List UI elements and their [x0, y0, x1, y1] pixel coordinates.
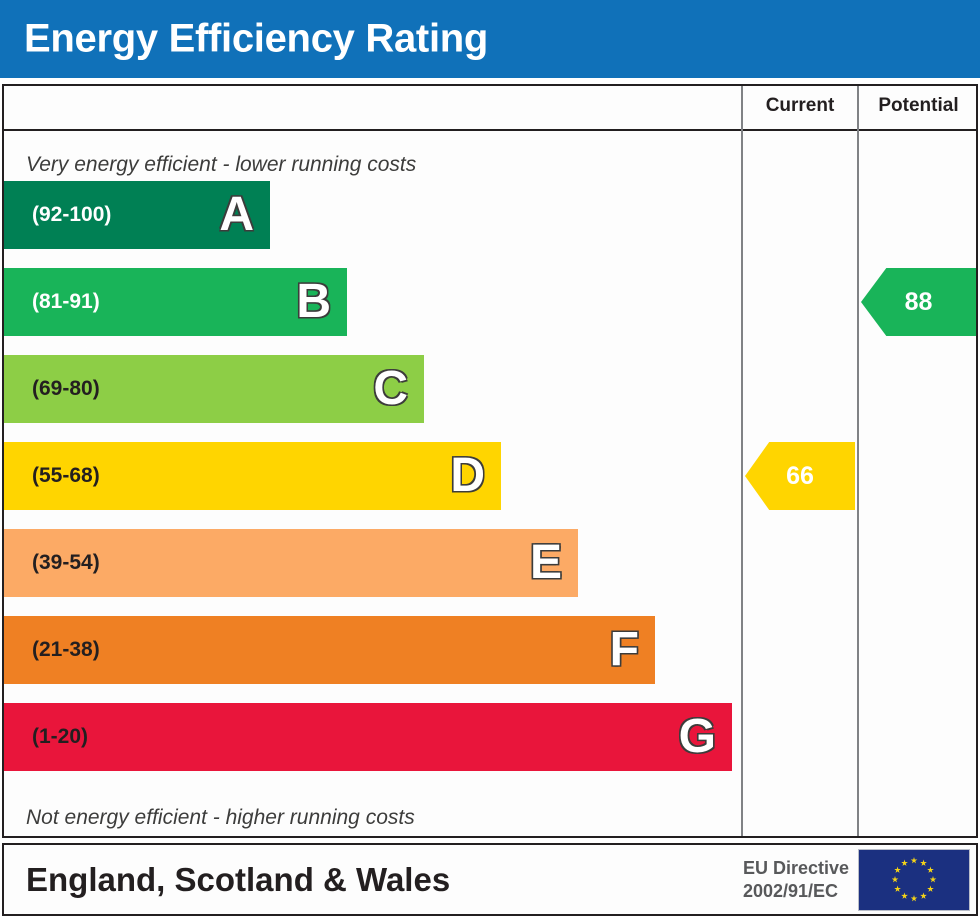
page-title: Energy Efficiency Rating — [24, 17, 488, 62]
eu-star-icon — [894, 867, 901, 874]
footer-region-label: England, Scotland & Wales — [26, 861, 450, 899]
eu-star-icon — [911, 895, 918, 902]
rating-chart: Current Potential ockRa Very energy effi… — [2, 84, 978, 838]
column-header-current: Current — [743, 95, 857, 117]
energy-efficiency-certificate: Energy Efficiency Rating Current Potenti… — [0, 0, 980, 918]
eu-star-icon — [894, 886, 901, 893]
bands-area: ockRa Very energy efficient - lower runn… — [4, 131, 741, 838]
band-letter-e: E — [530, 539, 562, 587]
caption-not-efficient: Not energy efficient - higher running co… — [26, 806, 415, 830]
directive-line-2: 2002/91/EC — [743, 881, 838, 901]
eu-star-icon — [920, 860, 927, 867]
directive-line-1: EU Directive — [743, 857, 849, 877]
band-b: (81-91)B — [4, 268, 347, 336]
band-c: (69-80)C — [4, 355, 424, 423]
current-rating-arrow: 66 — [745, 442, 855, 510]
band-range-f: (21-38) — [32, 638, 100, 662]
eu-star-icon — [920, 892, 927, 899]
eu-star-icon — [927, 886, 934, 893]
eu-star-icon — [892, 876, 899, 883]
band-d: (55-68)D — [4, 442, 501, 510]
column-header-potential: Potential — [859, 95, 978, 117]
caption-efficient: Very energy efficient - lower running co… — [26, 153, 416, 177]
band-letter-f: F — [610, 626, 639, 674]
column-divider-current — [741, 86, 743, 836]
band-f: (21-38)F — [4, 616, 655, 684]
band-range-g: (1-20) — [32, 725, 88, 749]
band-a: (92-100)A — [4, 181, 270, 249]
band-letter-d: D — [450, 452, 485, 500]
column-divider-potential — [857, 86, 859, 836]
band-e: (39-54)E — [4, 529, 578, 597]
eu-star-icon — [901, 860, 908, 867]
band-letter-a: A — [219, 191, 254, 239]
band-g: (1-20)G — [4, 703, 732, 771]
band-range-e: (39-54) — [32, 551, 100, 575]
potential-rating-arrow: 88 — [861, 268, 976, 336]
band-range-d: (55-68) — [32, 464, 100, 488]
band-letter-c: C — [373, 365, 408, 413]
band-letter-b: B — [296, 278, 331, 326]
eu-star-icon — [930, 876, 937, 883]
band-range-b: (81-91) — [32, 290, 100, 314]
eu-star-icon — [901, 892, 908, 899]
footer-bar: England, Scotland & Wales EU Directive 2… — [2, 843, 978, 916]
band-range-a: (92-100) — [32, 203, 111, 227]
band-letter-g: G — [679, 713, 716, 761]
footer-directive-label: EU Directive 2002/91/EC — [743, 856, 849, 902]
eu-star-icon — [911, 857, 918, 864]
band-range-c: (69-80) — [32, 377, 100, 401]
eu-flag-icon — [858, 849, 970, 911]
title-bar: Energy Efficiency Rating — [0, 0, 980, 78]
eu-star-icon — [927, 867, 934, 874]
